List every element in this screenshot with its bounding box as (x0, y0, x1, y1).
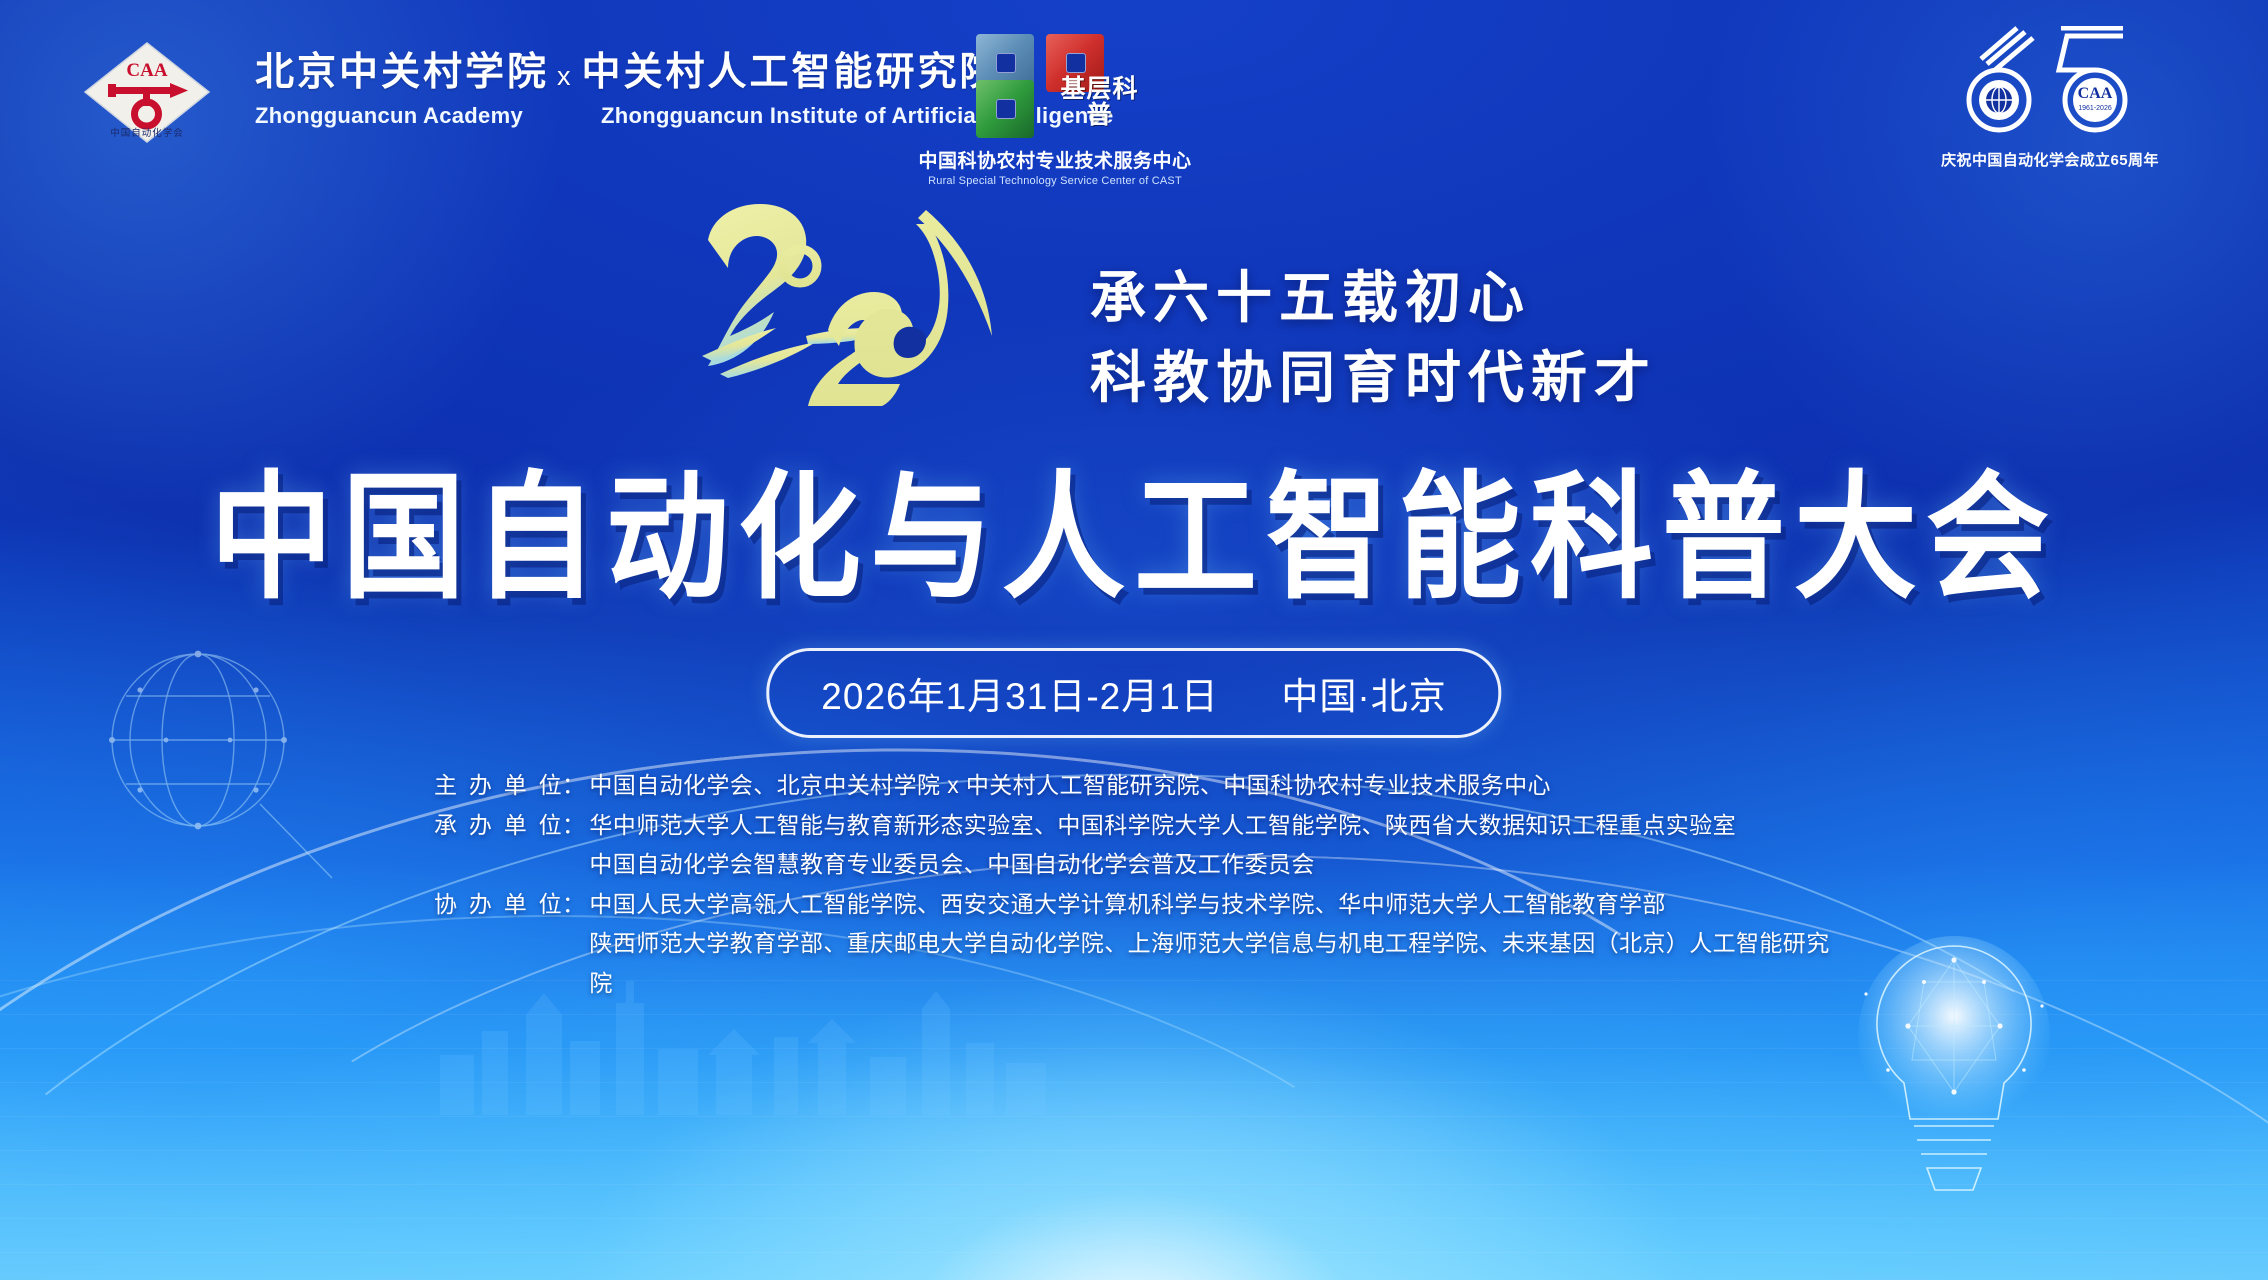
perspective-grid (0, 980, 2268, 1280)
cube-green-icon (976, 80, 1034, 138)
organizer-label-host: 主办单位 (434, 766, 562, 806)
cast-service-center-logo: 基层科普 中国科协农村专业技术服务中心 Rural Special Techno… (905, 32, 1205, 187)
partner-left-cn: 北京中关村学院 (255, 51, 549, 94)
conference-title: 中国自动化与人工智能科普大会 (0, 470, 2268, 608)
organizer-colon-coorganizer: ： (562, 806, 589, 846)
cast-cube-mark: 基层科普 (968, 32, 1143, 140)
organizer-value-coorganizer-line1: 华中师范大学人工智能与教育新形态实验室、中国科学院大学人工智能学院、陕西省大数据… (589, 806, 1834, 846)
cast-name-en: Rural Special Technology Service Center … (905, 175, 1205, 187)
anniversary-65-mark: CAA 1961-2026 (1955, 26, 2145, 138)
organizer-group-host: 主办单位 ： 中国自动化学会、北京中关村学院 x 中关村人工智能研究院、中国科协… (0, 766, 2268, 806)
caa-cn-ring-label: 中国自动化学会 (110, 127, 184, 139)
year-2026-brush-logo (690, 188, 1090, 418)
organizer-value-host-line1: 中国自动化学会、北京中关村学院 x 中关村人工智能研究院、中国科协农村专业技术服… (589, 766, 1834, 806)
organizer-group-coorganizer-cont: 中国自动化学会智慧教育专业委员会、中国自动化学会普及工作委员会 (0, 845, 2268, 885)
anniversary-logo: CAA 1961-2026 庆祝中国自动化学会成立65周年 (1920, 26, 2180, 170)
slogan-line-2: 科教协同育时代新才 (1090, 338, 1657, 418)
conference-location: 中国·北京 (1281, 676, 1446, 717)
slogan-line-1: 承六十五载初心 (1090, 258, 1657, 338)
organizer-colon-host: ： (562, 766, 589, 806)
poster-header: CAA 中国自动化学会 北京中关村学院x中关村人工智能研究院 Zhongguan… (0, 0, 2268, 200)
organizer-group-coorganizer: 承办单位 ： 华中师范大学人工智能与教育新形态实验室、中国科学院大学人工智能学院… (0, 806, 2268, 846)
partner-separator: x (549, 61, 582, 91)
conference-slogan: 承六十五载初心 科教协同育时代新才 (1090, 258, 1657, 417)
organizer-label-coorganizer: 承办单位 (434, 806, 562, 846)
anniversary-emblem-years: 1961-2026 (2078, 105, 2112, 112)
organizer-group-supporter: 协办单位 ： 中国人民大学高瓴人工智能学院、西安交通大学计算机科学与技术学院、华… (0, 885, 2268, 925)
organizer-value-coorganizer-line2: 中国自动化学会智慧教育专业委员会、中国自动化学会普及工作委员会 (589, 845, 1834, 885)
organizer-list: 主办单位 ： 中国自动化学会、北京中关村学院 x 中关村人工智能研究院、中国科协… (0, 766, 2268, 1003)
anniversary-emblem-acronym: CAA (2078, 85, 2113, 102)
organizer-value-supporter-line2: 陕西师范大学教育学部、重庆邮电大学自动化学院、上海师范大学信息与机电工程学院、未… (589, 924, 1834, 1003)
organizer-group-supporter-cont: 陕西师范大学教育学部、重庆邮电大学自动化学院、上海师范大学信息与机电工程学院、未… (0, 924, 2268, 1003)
partner-left-en: Zhongguancun Academy (255, 103, 523, 129)
organizer-value-supporter-line1: 中国人民大学高瓴人工智能学院、西安交通大学计算机科学与技术学院、华中师范大学人工… (589, 885, 1834, 925)
organizer-label-supporter: 协办单位 (434, 885, 562, 925)
conference-poster: CAA 中国自动化学会 北京中关村学院x中关村人工智能研究院 Zhongguan… (0, 0, 2268, 1280)
anniversary-caption: 庆祝中国自动化学会成立65周年 (1920, 149, 2180, 170)
cast-name-cn: 中国科协农村专业技术服务中心 (905, 146, 1205, 173)
organizer-colon-supporter: ： (562, 885, 589, 925)
conference-date: 2026年1月31日-2月1日 (821, 676, 1219, 717)
cast-badge-word: 基层科普 (1054, 76, 1146, 128)
date-location-badge: 2026年1月31日-2月1日 中国·北京 (766, 648, 1501, 738)
caa-diamond-emblem: CAA 中国自动化学会 (82, 40, 212, 145)
caa-acronym: CAA (126, 60, 167, 81)
